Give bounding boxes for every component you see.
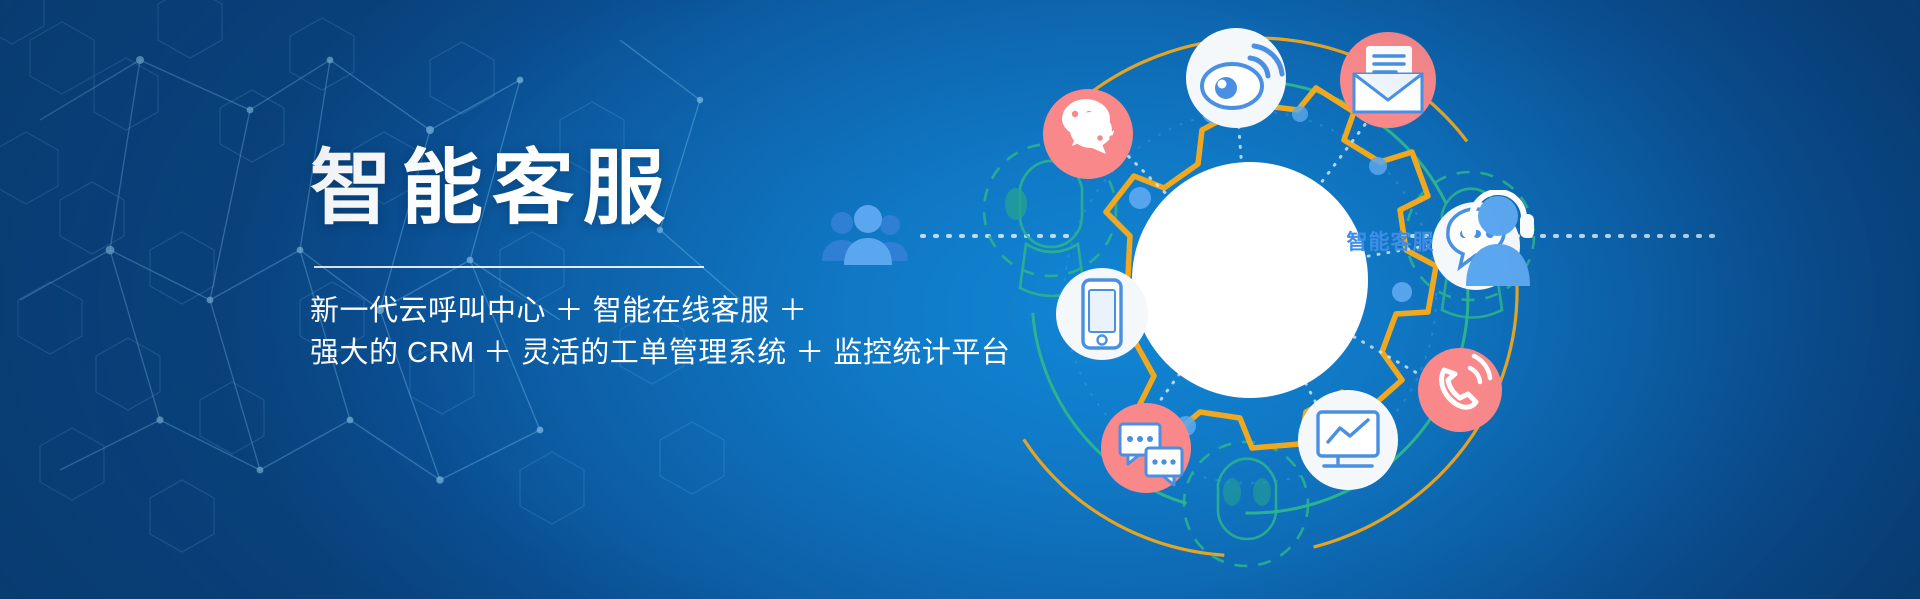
- wechat-icon: [1043, 89, 1133, 179]
- mobile-phone-icon: [1056, 268, 1148, 360]
- smart-customer-service-banner: 智能客服 新一代云呼叫中心 ＋ 智能在线客服 ＋ 强大的 CRM ＋ 灵活的工单…: [0, 0, 1920, 599]
- hub-label: 智能客服: [1328, 224, 1453, 258]
- phone-call-icon: [1418, 348, 1502, 432]
- subtitle-block: 新一代云呼叫中心 ＋ 智能在线客服 ＋ 强大的 CRM ＋ 灵活的工单管理系统 …: [310, 290, 1010, 374]
- monitor-chart-icon: [1298, 390, 1398, 490]
- people-group-icon: [812, 203, 918, 275]
- headset-agent-icon: [1452, 190, 1544, 286]
- title-divider: [314, 266, 704, 268]
- weibo-icon: [1186, 28, 1286, 128]
- subtitle-line-2: 强大的 CRM ＋ 灵活的工单管理系统 ＋ 监控统计平台: [310, 332, 1010, 374]
- subtitle-line-1: 新一代云呼叫中心 ＋ 智能在线客服 ＋: [310, 290, 1010, 332]
- email-icon: [1340, 32, 1436, 128]
- messages-icon: [1101, 403, 1191, 493]
- service-channels-diagram: [950, 0, 1590, 599]
- hub-circle: [1132, 162, 1368, 398]
